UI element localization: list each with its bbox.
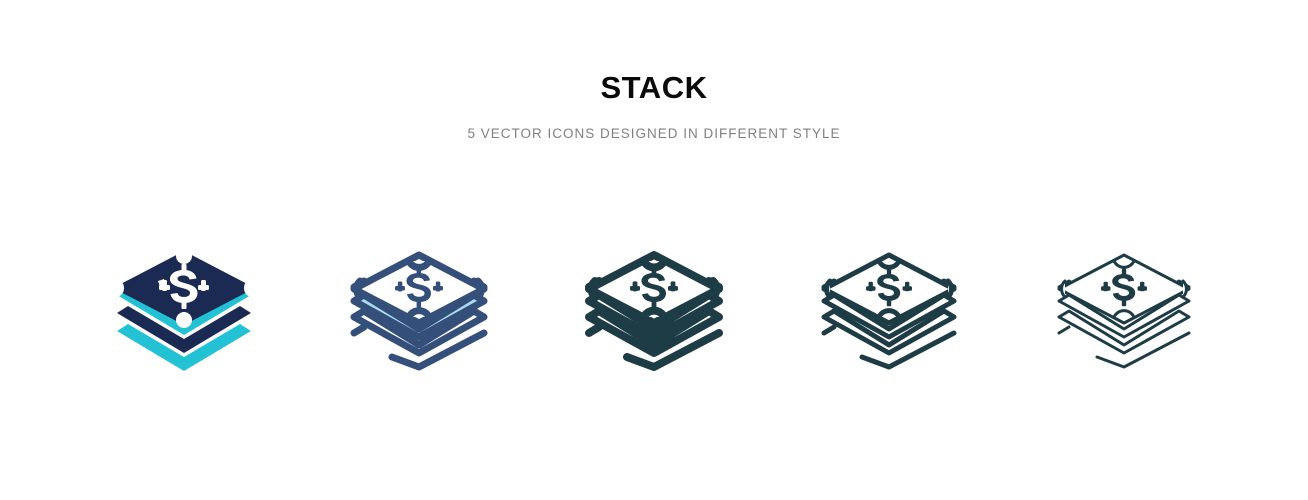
- notch-left: [1062, 281, 1065, 297]
- notch-left: [827, 281, 830, 297]
- notch-top: [879, 261, 899, 267]
- notch-left: [357, 281, 360, 297]
- icon-variant-outline-thin[interactable]: [1007, 236, 1242, 386]
- notch-top: [1114, 261, 1134, 267]
- icon-variant-outline-regular[interactable]: [772, 236, 1007, 386]
- notch-right: [1183, 281, 1186, 297]
- notch-bottom: [409, 311, 429, 317]
- page-header: STACK 5 VECTOR ICONS DESIGNED IN DIFFERE…: [0, 0, 1308, 141]
- notch-right: [948, 281, 951, 297]
- notch-right: [478, 281, 481, 297]
- notch-bottom: [644, 311, 664, 317]
- icon-variant-outline-two-color[interactable]: [302, 236, 537, 386]
- icon-variant-filled-two-color[interactable]: [67, 236, 302, 386]
- notch-bottom: [176, 312, 192, 328]
- notch-right: [713, 281, 716, 297]
- notch-left: [592, 281, 595, 297]
- notch-bottom: [1114, 311, 1134, 317]
- stack-money-icon-outline-regular: [814, 247, 964, 375]
- stack-money-icon-filled: [109, 247, 259, 375]
- stack-money-icon-outline-bold: [579, 247, 729, 375]
- stack-money-icon-outline-thin: [1049, 247, 1199, 375]
- icon-variant-outline-bold[interactable]: [537, 236, 772, 386]
- notch-top: [409, 261, 429, 267]
- notch-bottom: [879, 311, 899, 317]
- icon-sheet-page: STACK 5 VECTOR ICONS DESIGNED IN DIFFERE…: [0, 0, 1308, 500]
- icon-variants-row: [0, 236, 1308, 386]
- page-title: STACK: [0, 0, 1308, 103]
- notch-top: [176, 248, 192, 264]
- notch-top: [644, 261, 664, 267]
- stack-money-icon-outline-two-color: [344, 247, 494, 375]
- page-subtitle: 5 VECTOR ICONS DESIGNED IN DIFFERENT STY…: [0, 103, 1308, 141]
